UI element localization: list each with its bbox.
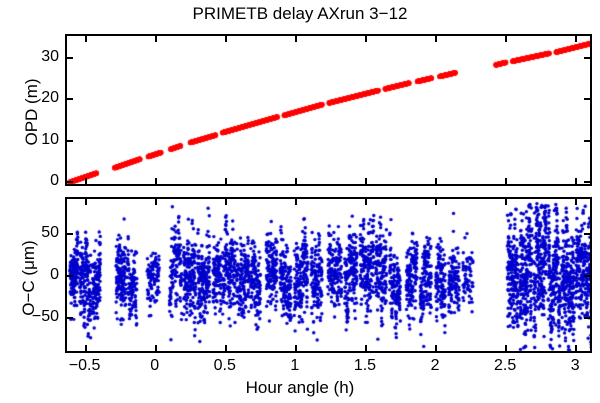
- tick-mark: [584, 275, 590, 277]
- tick-mark: [225, 345, 227, 351]
- residual-plot-panel: [65, 197, 592, 353]
- tick-mark: [155, 36, 157, 42]
- tick-mark: [85, 345, 87, 351]
- x-tick-label: 2: [431, 357, 440, 375]
- tick-mark: [575, 36, 577, 42]
- x-tick-label: 0: [150, 357, 159, 375]
- tick-mark: [365, 178, 367, 184]
- tick-mark: [67, 317, 73, 319]
- figure-container: PRIMETB delay AXrun 3−12 0102030 OPD (m)…: [0, 0, 600, 403]
- tick-mark: [505, 199, 507, 205]
- tick-mark: [505, 178, 507, 184]
- tick-mark: [67, 98, 73, 100]
- tick-mark: [365, 199, 367, 205]
- tick-mark: [584, 181, 590, 183]
- x-axis-label: Hour angle (h): [0, 378, 600, 398]
- tick-mark: [584, 233, 590, 235]
- tick-mark: [155, 199, 157, 205]
- tick-mark: [67, 233, 73, 235]
- tick-mark: [584, 98, 590, 100]
- tick-mark: [155, 345, 157, 351]
- x-tick-label: 0.5: [214, 357, 236, 375]
- tick-mark: [85, 36, 87, 42]
- tick-mark: [295, 199, 297, 205]
- tick-mark: [584, 317, 590, 319]
- opd-y-axis-label: OPD (m): [22, 52, 42, 172]
- tick-mark: [505, 36, 507, 42]
- tick-mark: [365, 36, 367, 42]
- x-tick-label: 3: [571, 357, 580, 375]
- x-tick-label: 1: [290, 357, 299, 375]
- tick-mark: [225, 199, 227, 205]
- tick-mark: [575, 199, 577, 205]
- tick-mark: [155, 178, 157, 184]
- residual-y-axis-label: O−C (μm): [19, 213, 39, 343]
- tick-mark: [435, 345, 437, 351]
- tick-mark: [505, 345, 507, 351]
- tick-mark: [67, 57, 73, 59]
- opd-series-canvas: [67, 36, 592, 186]
- tick-mark: [575, 345, 577, 351]
- tick-mark: [85, 199, 87, 205]
- tick-mark: [67, 140, 73, 142]
- opd-y-tick-label: 0: [23, 172, 59, 190]
- page-title: PRIMETB delay AXrun 3−12: [0, 4, 600, 24]
- x-tick-label: −0.5: [69, 357, 101, 375]
- tick-mark: [295, 345, 297, 351]
- tick-mark: [295, 178, 297, 184]
- tick-mark: [435, 178, 437, 184]
- tick-mark: [584, 57, 590, 59]
- tick-mark: [67, 181, 73, 183]
- tick-mark: [225, 36, 227, 42]
- tick-mark: [435, 36, 437, 42]
- x-tick-label: 1.5: [354, 357, 376, 375]
- tick-mark: [435, 199, 437, 205]
- tick-mark: [575, 178, 577, 184]
- tick-mark: [365, 345, 367, 351]
- tick-mark: [85, 178, 87, 184]
- opd-plot-panel: [65, 34, 592, 186]
- tick-mark: [584, 140, 590, 142]
- tick-mark: [67, 275, 73, 277]
- residual-series-canvas: [67, 199, 592, 353]
- tick-mark: [225, 178, 227, 184]
- x-tick-label: 2.5: [494, 357, 516, 375]
- tick-mark: [295, 36, 297, 42]
